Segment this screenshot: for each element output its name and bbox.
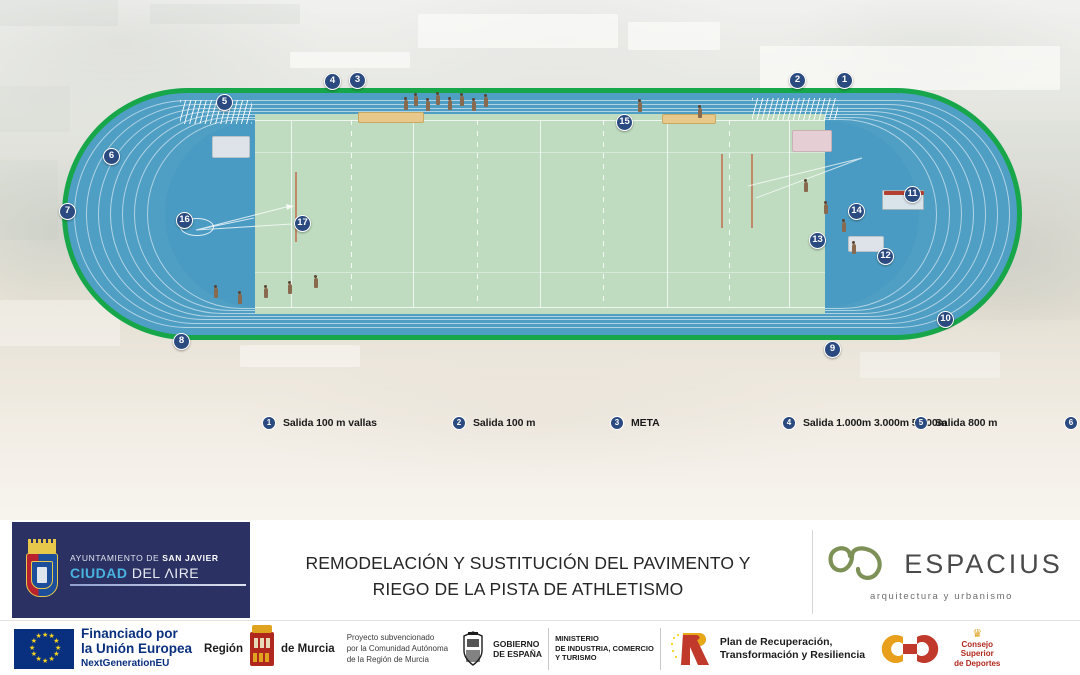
ministerio-line-1: MINISTERIO [555, 634, 654, 644]
rugby-goal-post [721, 154, 723, 228]
san-javier-crest-panel: AYUNTAMIENTO DE SAN JAVIER CIUDAD DEL ΛI… [12, 522, 250, 618]
subvencion-text: Proyecto subvencionado por la Comunidad … [347, 632, 448, 665]
prtr-flag-icon [667, 629, 713, 669]
legend-item-2[interactable]: 2Salida 100 m [452, 410, 610, 436]
eu-star-icon: ★ [36, 635, 40, 639]
csd-logo: ♛ Consejo Superior de Deportes [871, 621, 1006, 675]
csd-line-2: Superior [954, 649, 1000, 659]
crest-town-name: SAN JAVIER [162, 553, 218, 563]
athlete-figure [448, 100, 452, 110]
csd-symbol-icon [877, 629, 947, 669]
legend-label-1: Salida 100 m vallas [283, 417, 377, 429]
poster-root: 1234567891011121314151617 1Salida 100 m … [0, 0, 1080, 675]
eu-star-icon: ★ [49, 635, 53, 639]
long-jump-sandpit [358, 112, 424, 123]
eu-star-icon: ★ [36, 658, 40, 662]
pitch-dashed-line [729, 120, 730, 308]
athlete-figure [404, 100, 408, 110]
prtr-line-1: Plan de Recuperación, [720, 636, 865, 649]
high-jump-mat-left [212, 136, 250, 158]
legend-grid: 1Salida 100 m vallas2Salida 100 m3META4S… [262, 410, 1062, 518]
map-marker-17[interactable]: 17 [294, 215, 311, 232]
eu-star-icon: ★ [29, 647, 33, 651]
murcia-suffix: de Murcia [281, 643, 335, 655]
eu-star-icon: ★ [42, 660, 46, 664]
spain-coat-of-arms-icon [460, 631, 486, 667]
murcia-prefix: Región [204, 643, 243, 655]
gobierno-de-espana-logo: GOBIERNO DE ESPAÑA [454, 621, 548, 675]
legend-dot-6: 6 [1064, 416, 1078, 430]
pitch-22-line [667, 120, 668, 308]
pitch-5m-marks [255, 152, 825, 153]
prtr-logo: Plan de Recuperación, Transformación y R… [661, 621, 871, 675]
coat-of-arms-icon [22, 543, 62, 597]
map-marker-3[interactable]: 3 [349, 72, 366, 89]
castle-detail [254, 638, 270, 648]
legend-dot-2: 2 [452, 416, 466, 430]
ministerio-logo: MINISTERIO DE INDUSTRIA, COMERCIO Y TURI… [549, 621, 660, 675]
subvencion-note: Proyecto subvencionado por la Comunidad … [341, 621, 454, 675]
athlete-figure [638, 102, 642, 112]
ministerio-text: MINISTERIO DE INDUSTRIA, COMERCIO Y TURI… [555, 634, 654, 663]
athlete-figure [436, 95, 440, 105]
map-marker-10[interactable]: 10 [937, 311, 954, 328]
eu-line-1: Financiado por [81, 626, 192, 641]
project-title-line-2: RIEGO DE LA PISTA DE ATHLETISMO [258, 576, 798, 602]
european-union-flag-icon: ★★★★★★★★★★★★ [14, 629, 74, 669]
athlete-figure [314, 278, 318, 288]
crest-wordmark: AYUNTAMIENTO DE SAN JAVIER CIUDAD DEL ΛI… [70, 554, 246, 586]
crowns-detail [253, 653, 271, 662]
tower-icon [37, 567, 47, 583]
eu-star-icon: ★ [55, 647, 59, 651]
athlete-figure [238, 294, 242, 304]
csd-line-3: de Deportes [954, 659, 1000, 669]
map-marker-8[interactable]: 8 [173, 333, 190, 350]
crest-line-2: CIUDAD DEL ΛIRE [70, 565, 246, 581]
crest-del-aire: DEL ΛIRE [127, 565, 199, 581]
eu-line-3: NextGenerationEU [81, 656, 192, 671]
map-marker-12[interactable]: 12 [877, 248, 894, 265]
espacius-name: ESPACIUS [904, 549, 1063, 580]
map-marker-14[interactable]: 14 [848, 203, 865, 220]
eu-line-2: la Unión Europea [81, 641, 192, 656]
eu-funding-text: Financiado por la Unión Europea NextGene… [81, 626, 192, 671]
eu-star-icon: ★ [53, 640, 57, 644]
legend-dot-1: 1 [262, 416, 276, 430]
athlete-figure [214, 288, 218, 298]
legend-item-1[interactable]: 1Salida 100 m vallas [262, 410, 452, 436]
ministerio-line-3: Y TURISMO [555, 653, 654, 663]
pitch-5m-marks [255, 272, 825, 273]
eu-funding-logo: ★★★★★★★★★★★★ Financiado por la Unión Eur… [0, 621, 198, 675]
legend-dot-5: 5 [914, 416, 928, 430]
espacius-monogram-icon [820, 542, 896, 586]
pitch-22-line [413, 120, 414, 308]
subvencion-line-3: de la Región de Murcia [347, 654, 448, 665]
funding-logo-strip: ★★★★★★★★★★★★ Financiado por la Unión Eur… [0, 620, 1080, 675]
map-marker-5[interactable]: 5 [216, 94, 233, 111]
athlete-figure [472, 101, 476, 111]
prtr-text: Plan de Recuperación, Transformación y R… [720, 636, 865, 662]
map-marker-11[interactable]: 11 [904, 186, 921, 203]
eu-star-icon: ★ [31, 653, 35, 657]
athlete-figure [460, 96, 464, 106]
hammer-throw-sector [190, 198, 310, 258]
prtr-line-2: Transformación y Resiliencia [720, 649, 865, 662]
espacius-tagline: arquitectura y urbanismo [870, 591, 1013, 602]
athlete-figure [484, 97, 488, 107]
crest-line-1: AYUNTAMIENTO DE SAN JAVIER [70, 554, 246, 564]
legend-label-5: Salida 800 m [935, 417, 997, 429]
athlete-figure [414, 96, 418, 106]
athlete-figure [698, 108, 702, 118]
legend-item-5[interactable]: 5Salida 800 m [914, 410, 1064, 436]
pitch-dashed-line [477, 120, 478, 308]
map-marker-16[interactable]: 16 [176, 212, 193, 229]
legend-dot-4: 4 [782, 416, 796, 430]
eu-star-icon: ★ [42, 634, 46, 638]
pitch-dashed-line [603, 120, 604, 308]
subvencion-line-2: por la Comunidad Autónoma [347, 643, 448, 654]
map-marker-15[interactable]: 15 [616, 114, 633, 131]
gobierno-text: GOBIERNO DE ESPAÑA [493, 639, 542, 659]
athlete-figure [824, 204, 828, 214]
athlete-figure [288, 284, 292, 294]
crest-prefix: AYUNTAMIENTO DE [70, 553, 162, 563]
eu-star-icon: ★ [49, 658, 53, 662]
crest-rule: ✈ [70, 584, 246, 586]
project-banner: AYUNTAMIENTO DE SAN JAVIER CIUDAD DEL ΛI… [0, 520, 1080, 620]
region-de-murcia-logo: Región de Murcia [198, 621, 341, 675]
project-title-line-1: REMODELACIÓN Y SUSTITUCIÓN DEL PAVIMENTO… [258, 550, 798, 576]
hurdle-lane-markings [752, 98, 838, 120]
map-marker-1[interactable]: 1 [836, 72, 853, 89]
pitch-halfway [540, 120, 541, 308]
gobierno-line-1: GOBIERNO [493, 639, 542, 649]
map-marker-4[interactable]: 4 [324, 73, 341, 90]
ministerio-line-2: DE INDUSTRIA, COMERCIO [555, 644, 654, 654]
map-marker-9[interactable]: 9 [824, 341, 841, 358]
pitch-dashed-line [351, 120, 352, 308]
map-marker-7[interactable]: 7 [59, 203, 76, 220]
eu-star-icon: ★ [31, 640, 35, 644]
espacius-logo: ESPACIUS arquitectura y urbanismo [812, 530, 1070, 614]
legend-item-6[interactable]: 6Salida 400 m [1064, 410, 1080, 436]
athlete-figure [852, 244, 856, 254]
map-marker-13[interactable]: 13 [809, 232, 826, 249]
csd-text-block: ♛ Consejo Superior de Deportes [954, 629, 1000, 669]
map-marker-6[interactable]: 6 [103, 148, 120, 165]
subvencion-line-1: Proyecto subvencionado [347, 632, 448, 643]
athlete-figure [426, 101, 430, 111]
athlete-figure [264, 288, 268, 298]
long-jump-sandpit [662, 114, 716, 124]
legend-dot-3: 3 [610, 416, 624, 430]
legend-item-3[interactable]: 3META [610, 410, 782, 436]
stadium-diagram [62, 88, 1022, 340]
legend-label-3: META [631, 417, 660, 429]
project-title: REMODELACIÓN Y SUSTITUCIÓN DEL PAVIMENTO… [258, 550, 798, 602]
murcia-coat-of-arms-icon [250, 632, 274, 666]
csd-crown-icon: ♛ [954, 629, 1000, 640]
rugby-pitch [255, 114, 825, 314]
gobierno-line-2: DE ESPAÑA [493, 649, 542, 659]
csd-line-1: Consejo [954, 640, 1000, 650]
map-marker-2[interactable]: 2 [789, 72, 806, 89]
crest-ciudad: CIUDAD [70, 565, 127, 581]
legend-item-4[interactable]: 4Salida 1.000m 3.000m 5.000m [782, 410, 914, 436]
espacius-row: ESPACIUS [820, 542, 1063, 586]
athlete-figure [804, 182, 808, 192]
athlete-figure [842, 222, 846, 232]
legend-label-2: Salida 100 m [473, 417, 535, 429]
